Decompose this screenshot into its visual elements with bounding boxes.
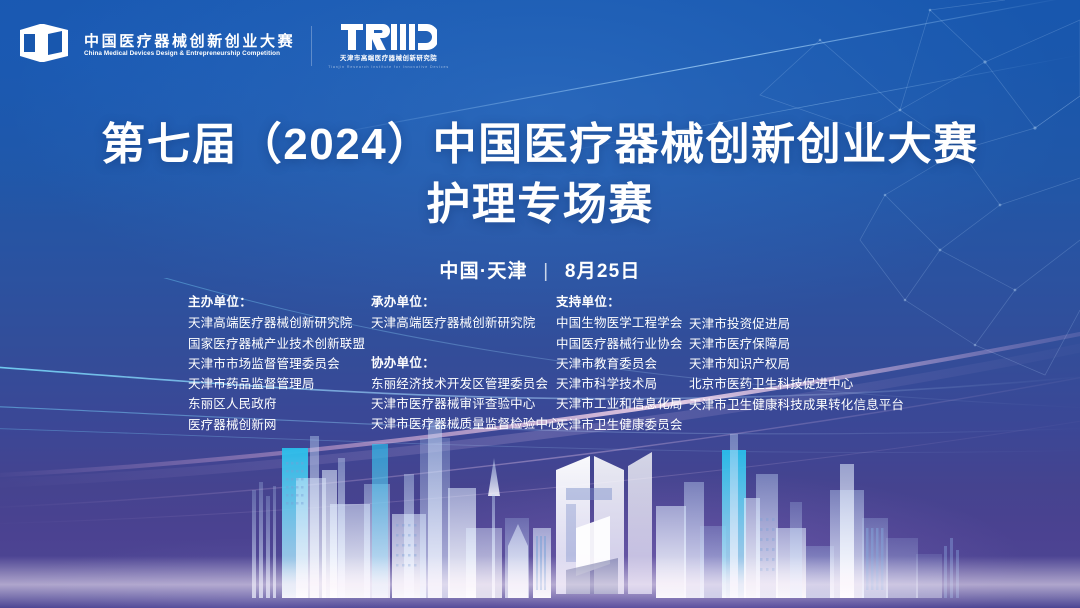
supporter-item: 天津市卫生健康委员会 xyxy=(556,415,689,435)
location-date-line: 中国·天津 | 8月25日 xyxy=(0,256,1080,283)
host-item: 东丽区人民政府 xyxy=(188,394,371,414)
organizers-column-undertaker: 承办单位： 天津高端医疗器械创新研究院 协办单位： 东丽经济技术开发区管理委员会… xyxy=(371,292,556,435)
column-spacer xyxy=(371,334,556,353)
organizers-block: 主办单位： 天津高端医疗器械创新研究院 国家医疗器械产业技术创新联盟 天津市市场… xyxy=(188,292,899,435)
organizers-column-supporter-b: 天津市投资促进局 天津市医疗保障局 天津市知识产权局 北京市医药卫生科技促进中心… xyxy=(689,292,899,415)
open-door-book-logo-icon xyxy=(18,22,70,69)
host-item: 天津市药品监督管理局 xyxy=(188,374,371,394)
supporter-item: 天津市科学技术局 xyxy=(556,374,689,394)
organizers-column-host: 主办单位： 天津高端医疗器械创新研究院 国家医疗器械产业技术创新联盟 天津市市场… xyxy=(188,292,371,435)
supporter-item: 中国生物医学工程学会 xyxy=(556,313,689,333)
supporter-heading: 支持单位： xyxy=(556,292,689,312)
host-item: 国家医疗器械产业技术创新联盟 xyxy=(188,334,371,354)
host-item: 天津高端医疗器械创新研究院 xyxy=(188,313,371,333)
supporter-item: 天津市知识产权局 xyxy=(689,354,899,374)
event-location: 中国·天津 xyxy=(439,261,527,282)
triid-name-en: Tianjin Research Institute for Innovativ… xyxy=(328,65,449,69)
supporter-item: 中国医疗器械行业协会 xyxy=(556,334,689,354)
event-date: 8月25日 xyxy=(565,261,641,282)
host-item: 医疗器械创新网 xyxy=(188,415,371,435)
competition-logo-text: 中国医疗器械创新创业大赛 China Medical Devices Desig… xyxy=(84,34,295,59)
triid-name-cn: 天津市高端医疗器械创新研究院 xyxy=(340,55,437,62)
competition-name-en: China Medical Devices Design & Entrepren… xyxy=(84,51,299,58)
supporter-item: 天津市教育委员会 xyxy=(556,354,689,374)
host-item: 天津市市场监督管理委员会 xyxy=(188,354,371,374)
undertaker-item: 天津高端医疗器械创新研究院 xyxy=(371,313,556,333)
logo-divider xyxy=(311,26,312,66)
supporter-item: 天津市投资促进局 xyxy=(689,314,899,334)
coorganizer-item: 天津市医疗器械审评查验中心 xyxy=(371,394,556,414)
supporter-item: 天津市医疗保障局 xyxy=(689,334,899,354)
host-heading: 主办单位： xyxy=(188,292,371,312)
title-line-1: 第七届（2024）中国医疗器械创新创业大赛 xyxy=(0,118,1080,172)
title-line-2: 护理专场赛 xyxy=(0,178,1080,232)
coorganizer-heading: 协办单位： xyxy=(371,353,556,373)
competition-name-cn: 中国医疗器械创新创业大赛 xyxy=(84,34,295,50)
undertaker-heading: 承办单位： xyxy=(371,292,556,312)
supporter-item: 天津市工业和信息化局 xyxy=(556,394,689,414)
triid-wordmark-icon xyxy=(341,22,437,52)
coorganizer-item: 东丽经济技术开发区管理委员会 xyxy=(371,374,556,394)
organizers-column-supporter-a: 支持单位： 中国生物医学工程学会 中国医疗器械行业协会 天津市教育委员会 天津市… xyxy=(556,292,689,435)
supporter-item: 北京市医药卫生科技促进中心 xyxy=(689,374,899,394)
event-poster: 中国医疗器械创新创业大赛 China Medical Devices Desig… xyxy=(0,0,1080,608)
subtitle-separator: | xyxy=(543,261,549,283)
coorganizer-item: 天津市医疗器械质量监督检验中心 xyxy=(371,414,556,434)
supporter-item: 天津市卫生健康科技成果转化信息平台 xyxy=(689,395,899,415)
triid-logo: 天津市高端医疗器械创新研究院 Tianjin Research Institut… xyxy=(328,22,449,70)
poster-title: 第七届（2024）中国医疗器械创新创业大赛 护理专场赛 xyxy=(0,118,1080,231)
header-logo-bar: 中国医疗器械创新创业大赛 China Medical Devices Desig… xyxy=(18,22,449,70)
